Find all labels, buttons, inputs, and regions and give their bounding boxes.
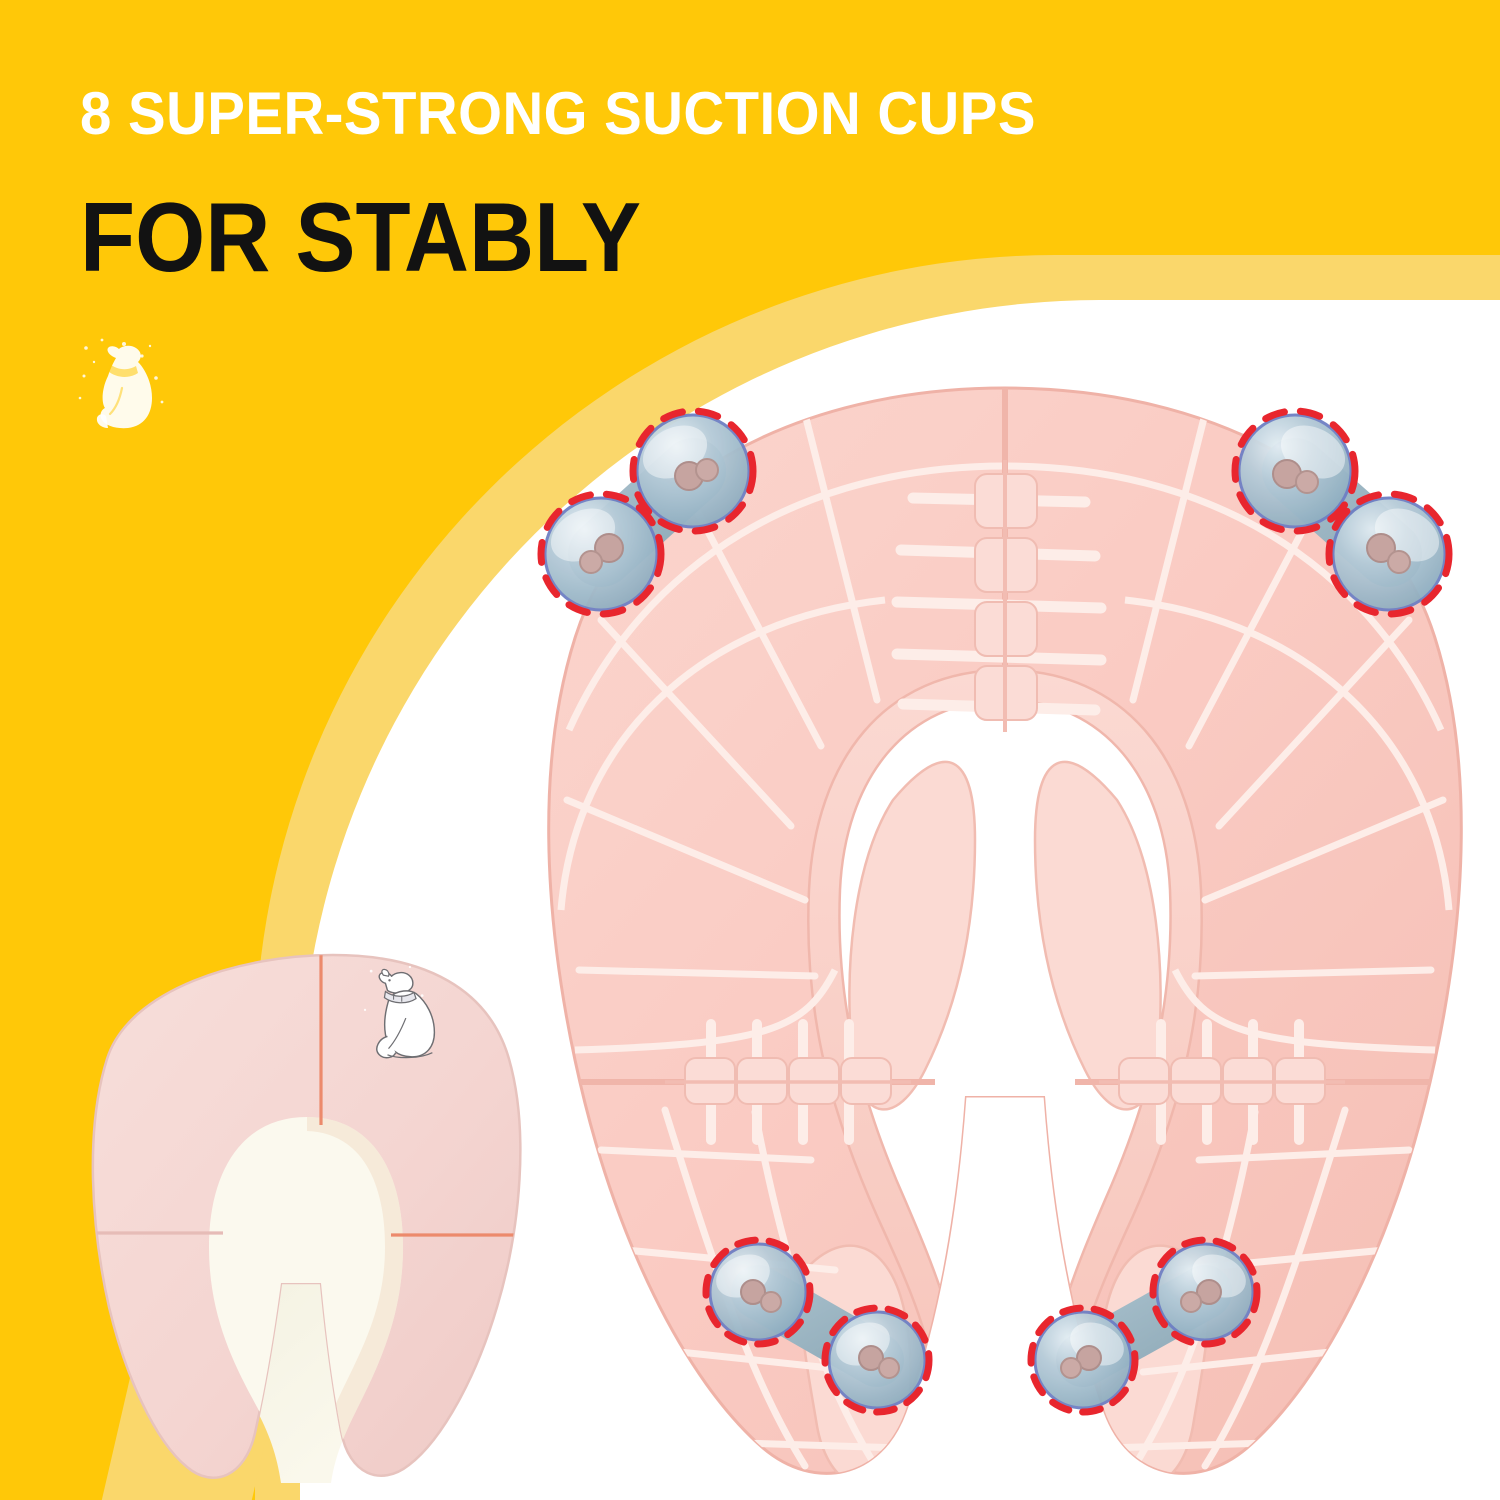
suction-cup-5 bbox=[709, 1244, 806, 1340]
suction-cup-7 bbox=[1035, 1312, 1131, 1408]
suction-cup-6 bbox=[829, 1312, 925, 1408]
small-product-image bbox=[85, 935, 585, 1500]
sitting-bear-logo-icon bbox=[72, 332, 182, 442]
main-product-image bbox=[505, 370, 1500, 1500]
folding-toilet-seat-topside-illustration bbox=[85, 935, 585, 1500]
headline-secondary: FOR STABLY bbox=[80, 186, 641, 288]
brand-logo bbox=[72, 332, 182, 442]
headline-primary: 8 SUPER-STRONG SUCTION CUPS bbox=[80, 82, 1036, 146]
suction-cup-8 bbox=[1157, 1244, 1253, 1340]
poster-canvas: 8 SUPER-STRONG SUCTION CUPS FOR STABLY bbox=[0, 0, 1500, 1500]
seat-body-group bbox=[549, 388, 1462, 1484]
folding-toilet-seat-underside-illustration bbox=[505, 370, 1500, 1500]
